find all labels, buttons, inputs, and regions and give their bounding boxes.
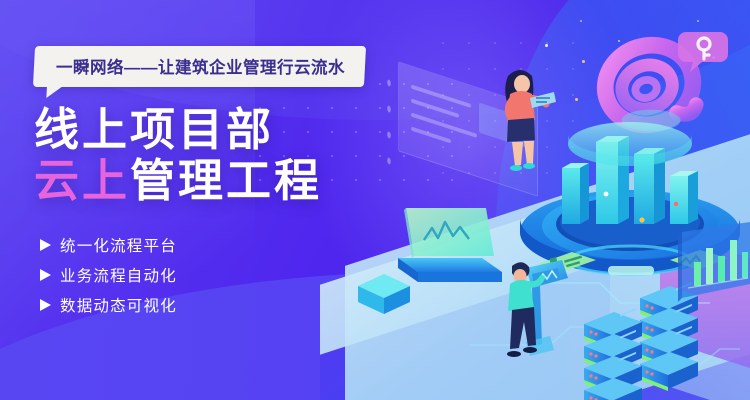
copy-block: 一瞬网络——让建筑企业管理行云流水 线上项目部 云上管理工程 统一化流程平台 业… <box>0 0 430 400</box>
headline-rest-text: 管理工程 <box>130 155 322 206</box>
chat-bubble-key-icon <box>678 28 730 76</box>
tagline-speech-bubble: 一瞬网络——让建筑企业管理行云流水 <box>33 46 366 87</box>
triangle-right-icon <box>40 239 51 251</box>
bar-chart-board <box>676 222 750 314</box>
headline-accent-text: 云上 <box>34 155 130 206</box>
triangle-right-icon <box>40 269 51 281</box>
man-at-kiosk <box>492 232 572 372</box>
bullet-label: 统一化流程平台 <box>60 234 177 256</box>
bullet-label: 数据动态可视化 <box>60 294 177 316</box>
headline-line-1: 线上项目部 <box>34 104 322 155</box>
headline-block: 线上项目部 云上管理工程 <box>34 104 322 206</box>
triangle-right-icon <box>40 299 51 311</box>
list-item: 统一化流程平台 <box>40 232 177 258</box>
promo-banner: 一瞬网络——让建筑企业管理行云流水 线上项目部 云上管理工程 统一化流程平台 业… <box>0 0 750 400</box>
list-item: 业务流程自动化 <box>40 262 177 288</box>
headline-line-2: 云上管理工程 <box>34 155 322 206</box>
tagline-bubble-wrapper: 一瞬网络——让建筑企业管理行云流水 <box>34 46 365 87</box>
woman-with-tablet <box>488 62 558 174</box>
bullet-label: 业务流程自动化 <box>60 264 177 286</box>
feature-bullet-list: 统一化流程平台 业务流程自动化 数据动态可视化 <box>40 232 177 322</box>
tagline-text: 一瞬网络——让建筑企业管理行云流水 <box>56 54 345 78</box>
list-item: 数据动态可视化 <box>40 292 177 318</box>
